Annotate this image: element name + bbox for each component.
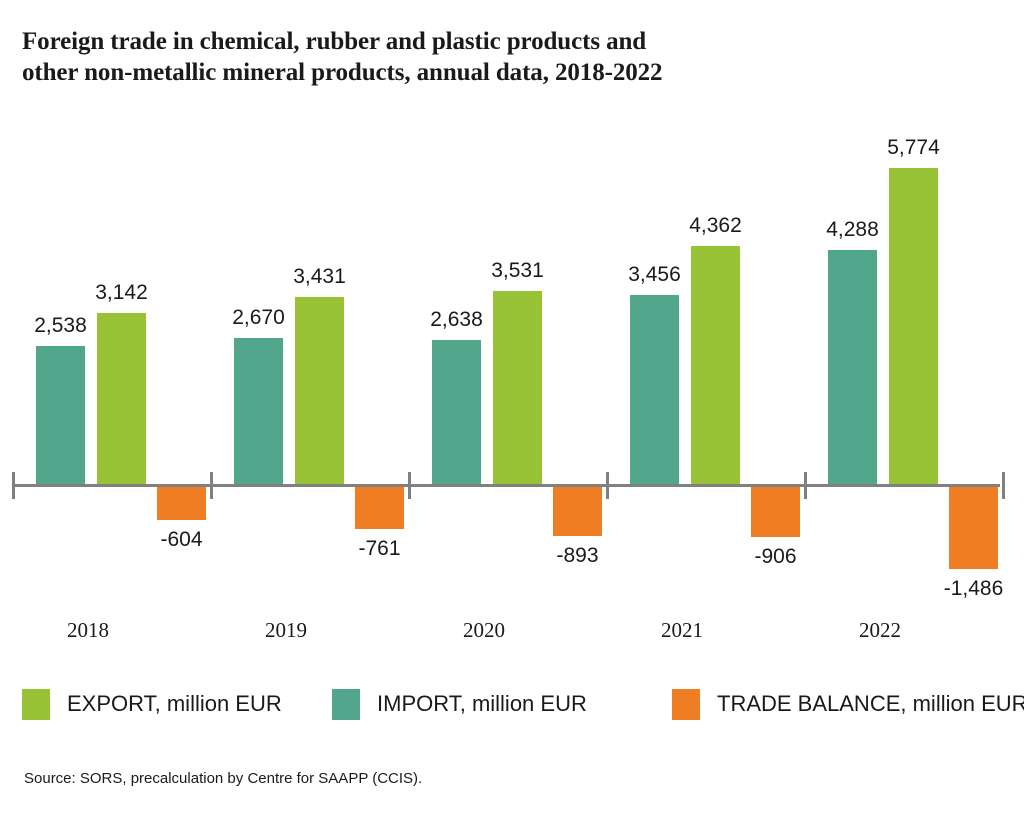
axis-tick <box>804 472 807 499</box>
value-label-trade-balance-2019: -761 <box>358 537 400 561</box>
bar-chart-plot-area: 2,5383,142-6042,6703,431-7612,6383,531-8… <box>0 0 1024 660</box>
value-label-import-2020: 2,638 <box>430 308 483 332</box>
bar-export-2020[interactable] <box>493 291 542 485</box>
bar-import-2019[interactable] <box>234 338 283 485</box>
bar-import-2020[interactable] <box>432 340 481 485</box>
value-label-export-2022: 5,774 <box>887 136 940 160</box>
bar-trade-balance-2022[interactable] <box>949 487 998 569</box>
bar-export-2021[interactable] <box>691 246 740 485</box>
value-label-import-2022: 4,288 <box>826 218 879 242</box>
x-axis-label-2018: 2018 <box>67 618 109 643</box>
legend-swatch-export <box>22 689 50 720</box>
axis-tick <box>210 472 213 499</box>
value-label-import-2018: 2,538 <box>34 314 87 338</box>
value-label-export-2020: 3,531 <box>491 259 544 283</box>
value-label-trade-balance-2018: -604 <box>160 528 202 552</box>
chart-legend: EXPORT, million EURIMPORT, million EURTR… <box>0 688 1024 730</box>
x-axis-label-2020: 2020 <box>463 618 505 643</box>
legend-label-import: IMPORT, million EUR <box>377 691 587 717</box>
x-axis-label-2019: 2019 <box>265 618 307 643</box>
value-label-export-2018: 3,142 <box>95 281 148 305</box>
axis-tick <box>12 472 15 499</box>
bar-trade-balance-2021[interactable] <box>751 487 800 537</box>
value-label-trade-balance-2022: -1,486 <box>944 577 1004 601</box>
legend-swatch-import <box>332 689 360 720</box>
axis-tick <box>606 472 609 499</box>
legend-item-trade-balance[interactable]: TRADE BALANCE, million EUR <box>672 688 1024 720</box>
bar-trade-balance-2020[interactable] <box>553 487 602 536</box>
bar-trade-balance-2018[interactable] <box>157 487 206 520</box>
axis-tick <box>408 472 411 499</box>
value-label-import-2021: 3,456 <box>628 263 681 287</box>
legend-label-export: EXPORT, million EUR <box>67 691 282 717</box>
bar-export-2018[interactable] <box>97 313 146 485</box>
chart-page: Foreign trade in chemical, rubber and pl… <box>0 0 1024 818</box>
bar-export-2022[interactable] <box>889 168 938 485</box>
value-label-import-2019: 2,670 <box>232 306 285 330</box>
value-label-trade-balance-2021: -906 <box>754 545 796 569</box>
value-label-export-2021: 4,362 <box>689 214 742 238</box>
legend-label-trade-balance: TRADE BALANCE, million EUR <box>717 691 1024 717</box>
bar-import-2018[interactable] <box>36 346 85 485</box>
legend-item-import[interactable]: IMPORT, million EUR <box>332 688 587 720</box>
bar-export-2019[interactable] <box>295 297 344 485</box>
x-axis-label-2021: 2021 <box>661 618 703 643</box>
bar-import-2021[interactable] <box>630 295 679 485</box>
value-label-trade-balance-2020: -893 <box>556 544 598 568</box>
zero-axis-line <box>12 484 1000 487</box>
legend-swatch-trade-balance <box>672 689 700 720</box>
source-note: Source: SORS, precalculation by Centre f… <box>24 770 422 787</box>
axis-tick <box>1002 472 1005 499</box>
bar-trade-balance-2019[interactable] <box>355 487 404 529</box>
value-label-export-2019: 3,431 <box>293 265 346 289</box>
legend-item-export[interactable]: EXPORT, million EUR <box>22 688 282 720</box>
bar-import-2022[interactable] <box>828 250 877 485</box>
x-axis-label-2022: 2022 <box>859 618 901 643</box>
